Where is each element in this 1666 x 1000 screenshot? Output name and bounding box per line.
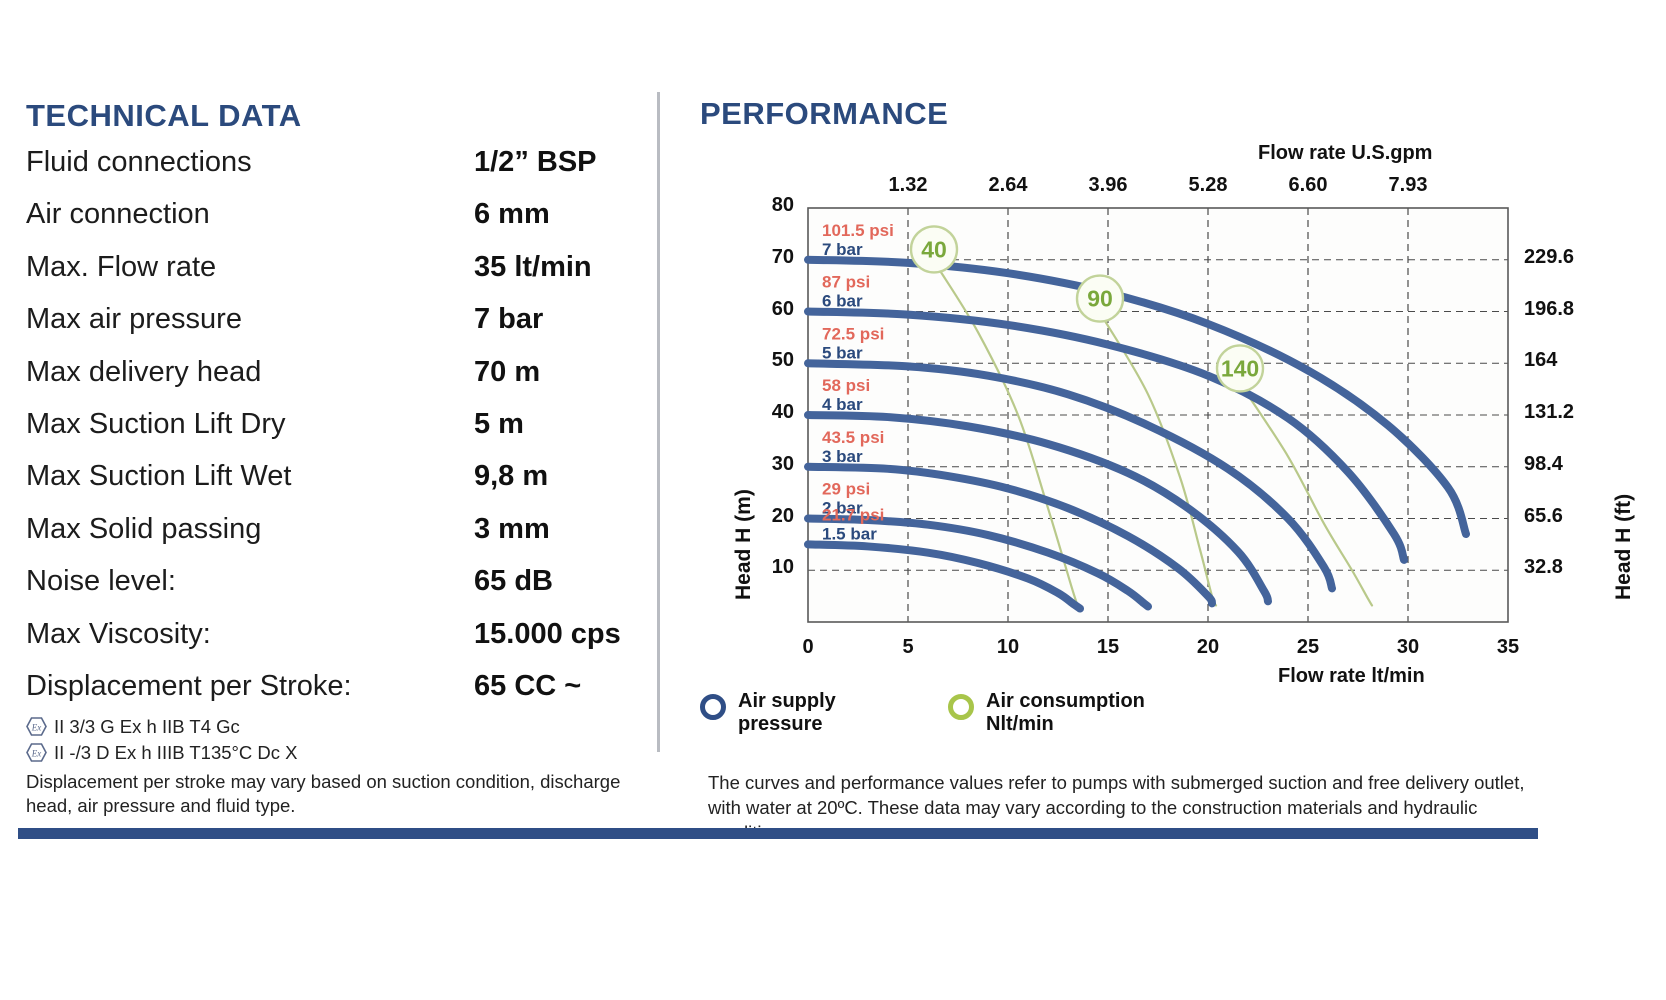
spec-row: Max. Flow rate35 lt/min bbox=[26, 251, 666, 291]
spec-label: Fluid connections bbox=[26, 146, 252, 179]
pressure-label-psi: 58 psi bbox=[822, 376, 870, 395]
spec-value: 7 bar bbox=[474, 303, 543, 336]
legend-label-air-supply: Air supplypressure bbox=[738, 690, 836, 736]
spec-label: Max Solid passing bbox=[26, 513, 261, 546]
spec-value: 3 mm bbox=[474, 513, 550, 546]
spec-value: 65 CC ~ bbox=[474, 670, 581, 703]
air-consumption-bubble: 40 bbox=[911, 226, 957, 272]
spec-label: Max Viscosity: bbox=[26, 618, 211, 651]
spec-value: 35 lt/min bbox=[474, 251, 592, 284]
svg-text:Ex: Ex bbox=[31, 749, 42, 759]
spec-value: 70 m bbox=[474, 356, 540, 389]
spec-label: Max air pressure bbox=[26, 303, 242, 336]
air-consumption-bubble-label: 40 bbox=[921, 236, 947, 262]
spec-row: Max Suction Lift Wet9,8 m bbox=[26, 460, 666, 500]
spec-label: Max. Flow rate bbox=[26, 251, 216, 284]
air-consumption-bubble-label: 90 bbox=[1087, 286, 1113, 312]
air-consumption-bubble: 140 bbox=[1217, 345, 1263, 391]
atex-marking: ExII -/3 D Ex h IIIB T135°C Dc X bbox=[26, 742, 298, 764]
datasheet-page: TECHNICAL DATA Fluid connections1/2” BSP… bbox=[0, 0, 1666, 1000]
technical-note: Displacement per stroke may vary based o… bbox=[26, 770, 626, 818]
air-consumption-ring-icon bbox=[948, 694, 974, 720]
atex-marking-text: II 3/3 G Ex h IIB T4 Gc bbox=[54, 716, 240, 737]
chart-legend: Air supplypressure Air consumptionNlt/mi… bbox=[700, 692, 1400, 752]
spec-value: 6 mm bbox=[474, 198, 550, 231]
spec-label: Noise level: bbox=[26, 565, 176, 598]
spec-label: Max delivery head bbox=[26, 356, 261, 389]
spec-label: Max Suction Lift Wet bbox=[26, 460, 291, 493]
pressure-label-psi: 29 psi bbox=[822, 480, 870, 499]
spec-label: Max Suction Lift Dry bbox=[26, 408, 285, 441]
chart-plot-area: 4090140101.5 psi7 bar87 psi6 bar72.5 psi… bbox=[700, 130, 1640, 690]
pressure-label-bar: 4 bar bbox=[822, 395, 863, 414]
performance-column: PERFORMANCE Flow rate U.S.gpm Flow rate … bbox=[660, 0, 1666, 1000]
pressure-label-bar: 3 bar bbox=[822, 447, 863, 466]
spec-value: 9,8 m bbox=[474, 460, 548, 493]
air-consumption-bubble-label: 140 bbox=[1221, 355, 1259, 381]
spec-value: 65 dB bbox=[474, 565, 553, 598]
performance-chart: Flow rate U.S.gpm Flow rate lt/min Head … bbox=[700, 130, 1640, 690]
pressure-label-psi: 72.5 psi bbox=[822, 324, 884, 343]
spec-value: 5 m bbox=[474, 408, 524, 441]
pressure-label-bar: 5 bar bbox=[822, 343, 863, 362]
air-consumption-bubble: 90 bbox=[1077, 276, 1123, 322]
svg-text:Ex: Ex bbox=[31, 723, 42, 733]
air-supply-ring-icon bbox=[700, 694, 726, 720]
pressure-label-bar: 6 bar bbox=[822, 292, 863, 311]
atex-hexagon-icon: Ex bbox=[26, 743, 47, 762]
spec-row: Max air pressure7 bar bbox=[26, 303, 666, 343]
spec-value: 1/2” BSP bbox=[474, 146, 597, 179]
spec-row: Air connection6 mm bbox=[26, 198, 666, 238]
pressure-label-bar: 1.5 bar bbox=[822, 524, 877, 543]
atex-marking: ExII 3/3 G Ex h IIB T4 Gc bbox=[26, 716, 240, 738]
legend-label-air-consumption: Air consumptionNlt/min bbox=[986, 690, 1145, 736]
footer-bar bbox=[18, 828, 1538, 839]
spec-row: Max delivery head70 m bbox=[26, 356, 666, 396]
pressure-label-bar: 7 bar bbox=[822, 240, 863, 259]
technical-data-title: TECHNICAL DATA bbox=[26, 98, 302, 134]
spec-row: Max Suction Lift Dry5 m bbox=[26, 408, 666, 448]
spec-label: Air connection bbox=[26, 198, 210, 231]
spec-row: Fluid connections1/2” BSP bbox=[26, 146, 666, 186]
performance-title: PERFORMANCE bbox=[700, 96, 948, 132]
pressure-label-psi: 101.5 psi bbox=[822, 221, 894, 240]
pressure-label-psi: 87 psi bbox=[822, 273, 870, 292]
technical-data-column: TECHNICAL DATA Fluid connections1/2” BSP… bbox=[0, 0, 690, 1000]
spec-value: 15.000 cps bbox=[474, 618, 621, 651]
spec-label: Displacement per Stroke: bbox=[26, 670, 352, 703]
pressure-label-psi: 43.5 psi bbox=[822, 428, 884, 447]
spec-row: Max Solid passing3 mm bbox=[26, 513, 666, 553]
spec-row: Max Viscosity:15.000 cps bbox=[26, 618, 666, 658]
spec-row: Noise level:65 dB bbox=[26, 565, 666, 605]
spec-row: Displacement per Stroke:65 CC ~ bbox=[26, 670, 666, 710]
pressure-label-psi: 21.7 psi bbox=[822, 505, 884, 524]
atex-hexagon-icon: Ex bbox=[26, 717, 47, 736]
atex-marking-text: II -/3 D Ex h IIIB T135°C Dc X bbox=[54, 742, 298, 763]
